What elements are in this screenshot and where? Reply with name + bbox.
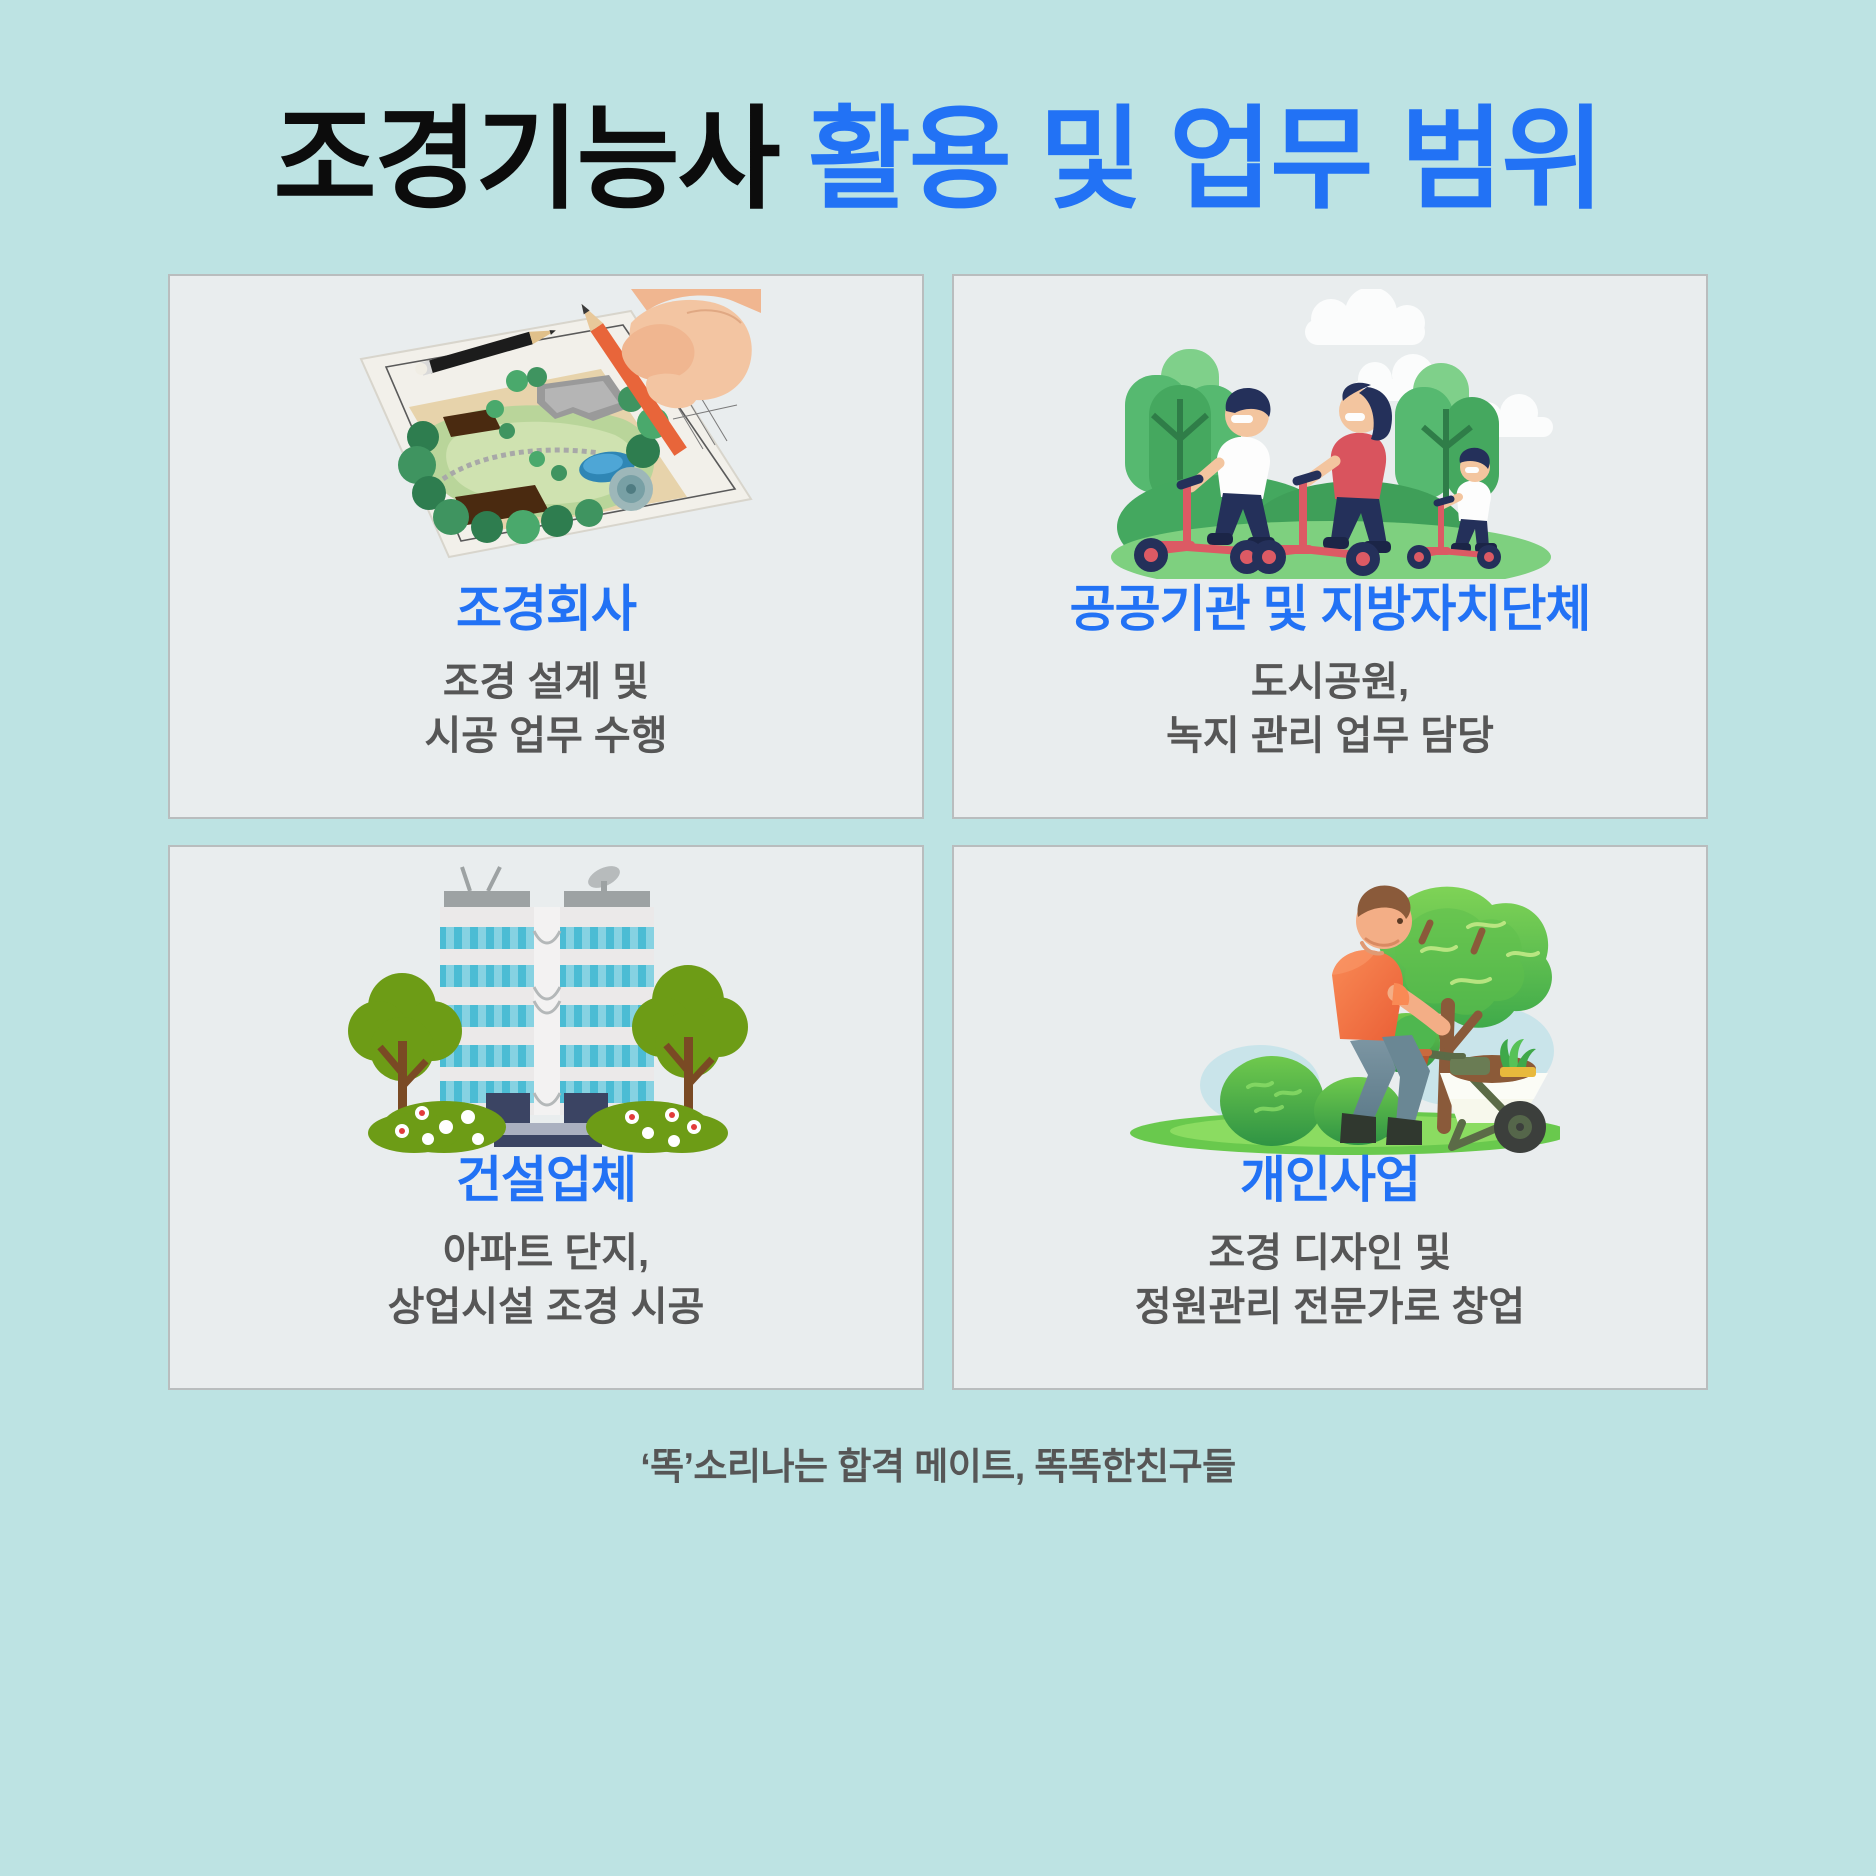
card-personal-business[interactable]: 개인사업 조경 디자인 및 정원관리 전문가로 창업 <box>952 845 1708 1390</box>
apartment-buildings-icon <box>170 847 922 1147</box>
card-construction-company[interactable]: 건설업체 아파트 단지, 상업시설 조경 시공 <box>168 845 924 1390</box>
family-park-scooter-icon <box>954 276 1706 576</box>
card-title: 조경회사 <box>456 582 636 637</box>
card-description: 조경 설계 및 시공 업무 수행 <box>424 655 667 763</box>
card-description: 조경 디자인 및 정원관리 전문가로 창업 <box>1135 1226 1525 1334</box>
card-grid: 조경회사 조경 설계 및 시공 업무 수행 <box>168 274 1708 1390</box>
poster-root: 조경기능사 활용 및 업무 범위 <box>0 0 1876 1876</box>
card-title: 건설업체 <box>456 1153 636 1208</box>
gardener-wheelbarrow-icon <box>954 847 1706 1147</box>
card-description: 도시공원, 녹지 관리 업무 담당 <box>1166 655 1494 763</box>
card-landscape-company[interactable]: 조경회사 조경 설계 및 시공 업무 수행 <box>168 274 924 819</box>
landscape-design-drawing-icon <box>170 276 922 576</box>
footer-tagline: ‘똑’소리나는 합격 메이트, 똑똑한친구들 <box>640 1436 1235 1490</box>
card-public-institution[interactable]: 공공기관 및 지방자치단체 도시공원, 녹지 관리 업무 담당 <box>952 274 1708 819</box>
card-description: 아파트 단지, 상업시설 조경 시공 <box>388 1226 705 1334</box>
card-title: 개인사업 <box>1240 1153 1420 1208</box>
page-title-accent: 활용 및 업무 범위 <box>808 97 1603 222</box>
page-title: 조경기능사 활용 및 업무 범위 <box>0 104 1876 216</box>
card-title: 공공기관 및 지방자치단체 <box>1070 582 1591 637</box>
page-title-primary: 조경기능사 <box>274 97 808 222</box>
